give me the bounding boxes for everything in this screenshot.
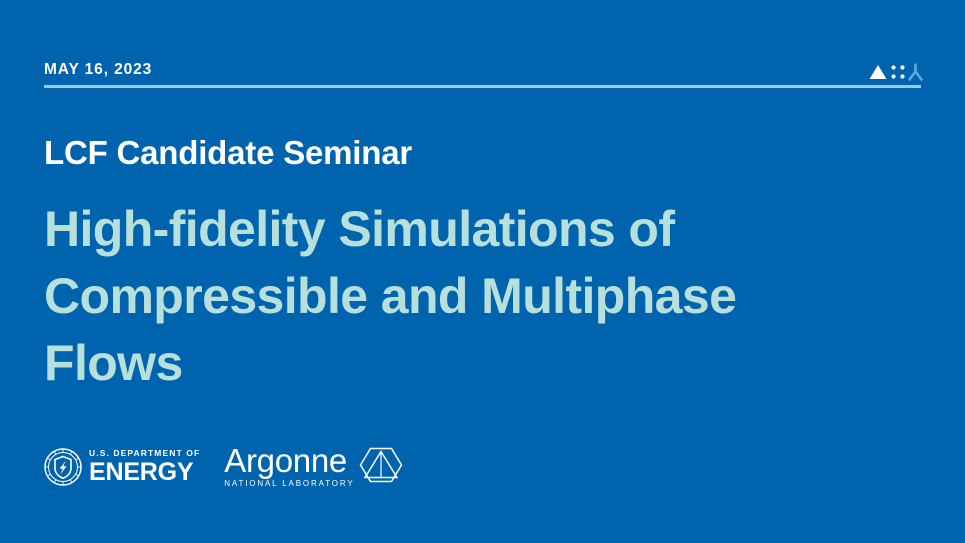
title-slide: MAY 16, 2023 LCF Candidate Seminar High-…: [0, 0, 965, 543]
argonne-wordmark: Argonne NATIONAL LABORATORY: [224, 444, 354, 488]
argonne-hexagon-icon: [359, 446, 403, 484]
argonne-name-label: Argonne: [224, 444, 354, 478]
doe-department-label: U.S. DEPARTMENT OF: [89, 449, 200, 458]
slide-date: MAY 16, 2023: [44, 60, 152, 80]
headline-line-3: Flows: [44, 330, 904, 397]
argonne-subtitle-label: NATIONAL LABORATORY: [224, 479, 354, 488]
slide-headline: High-fidelity Simulations of Compressibl…: [44, 196, 904, 397]
doe-energy-label: ENERGY: [89, 460, 200, 485]
slide-header: MAY 16, 2023: [44, 60, 921, 94]
headline-line-1: High-fidelity Simulations of: [44, 196, 904, 263]
logo-lockup: U.S. DEPARTMENT OF ENERGY Argonne NATION…: [44, 440, 403, 494]
header-divider: [44, 85, 921, 88]
doe-seal-icon: [44, 448, 82, 486]
argonne-logo: Argonne NATIONAL LABORATORY: [224, 440, 402, 494]
headline-line-2: Compressible and Multiphase: [44, 263, 904, 330]
argonne-glyph-icon: [868, 62, 924, 82]
doe-wordmark: U.S. DEPARTMENT OF ENERGY: [89, 449, 200, 485]
doe-logo: U.S. DEPARTMENT OF ENERGY: [44, 445, 200, 489]
seminar-eyebrow: LCF Candidate Seminar: [44, 131, 412, 175]
